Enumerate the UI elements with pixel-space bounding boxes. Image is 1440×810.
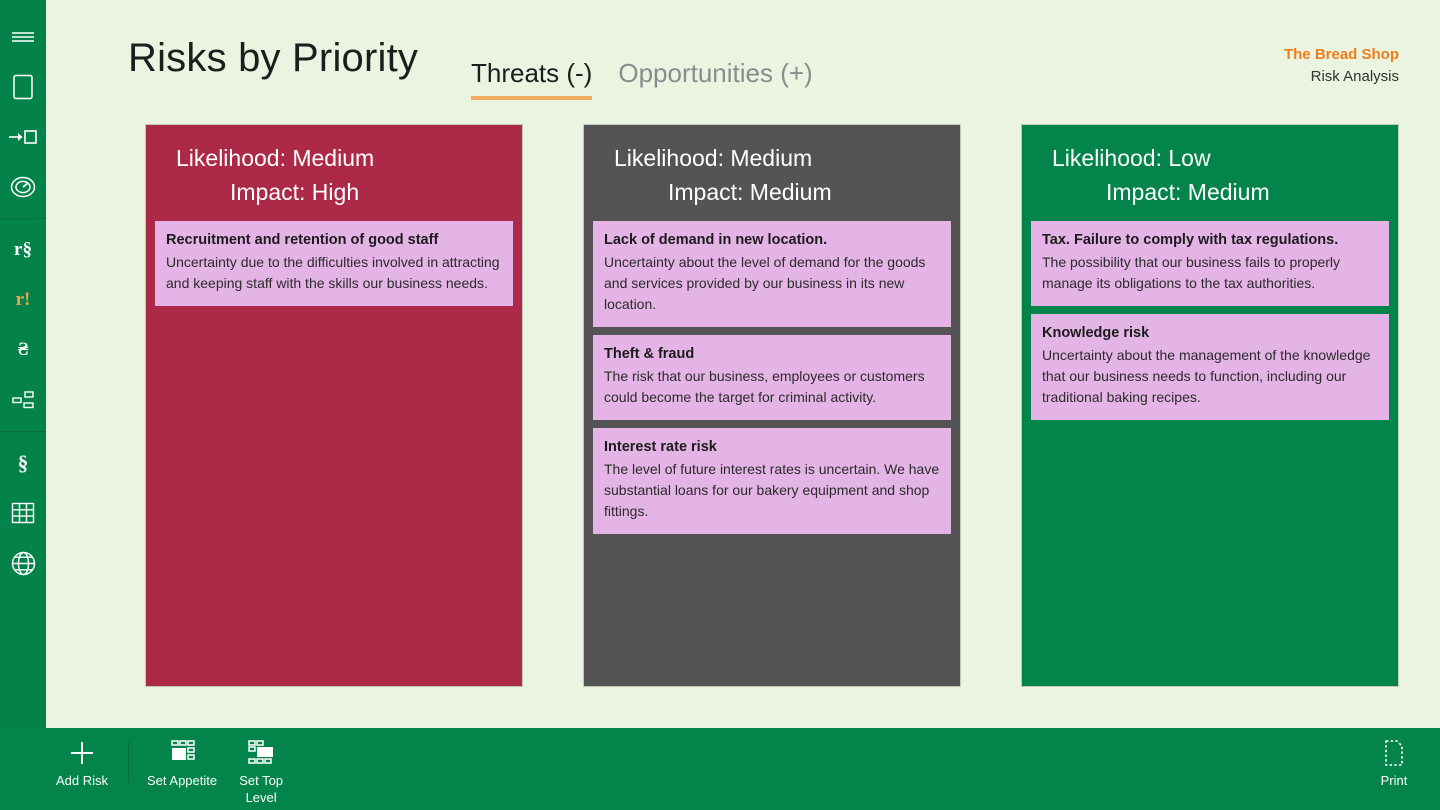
brand-subtitle: Risk Analysis — [1284, 66, 1399, 88]
column-impact: Impact: Medium — [1044, 175, 1376, 209]
risk-description: The risk that our business, employees or… — [604, 366, 940, 408]
top-level-grid-icon — [246, 738, 276, 768]
column-body: Tax. Failure to comply with tax regulati… — [1022, 221, 1398, 686]
risk-description: The level of future interest rates is un… — [604, 459, 940, 522]
set-appetite-label: Set Appetite — [147, 772, 217, 789]
risk-column-medium-high: Likelihood: Medium Impact: High Recruitm… — [146, 125, 522, 686]
globe-icon[interactable] — [0, 538, 46, 588]
add-risk-label: Add Risk — [56, 772, 108, 789]
risk-card[interactable]: Knowledge risk Uncertainty about the man… — [1031, 314, 1389, 420]
column-likelihood: Likelihood: Medium — [606, 141, 938, 175]
hamburger-menu-icon[interactable] — [0, 12, 46, 62]
risk-card[interactable]: Lack of demand in new location. Uncertai… — [593, 221, 951, 327]
bottom-command-bar: Add Risk Set Appetite — [0, 728, 1440, 810]
column-body: Recruitment and retention of good staff … — [146, 221, 522, 686]
app-root: r§ r! ₴ § — [0, 0, 1440, 810]
risk-title: Knowledge risk — [1042, 323, 1378, 343]
risk-column-medium-medium: Likelihood: Medium Impact: Medium Lack o… — [584, 125, 960, 686]
rail-divider-1 — [0, 218, 46, 219]
risk-column-low-medium: Likelihood: Low Impact: Medium Tax. Fail… — [1022, 125, 1398, 686]
risk-description: Uncertainty about the level of demand fo… — [604, 252, 940, 315]
rail-divider-2 — [0, 431, 46, 432]
column-header: Likelihood: Medium Impact: High — [146, 125, 522, 221]
risk-title: Interest rate risk — [604, 437, 940, 457]
plus-icon — [68, 738, 96, 768]
appetite-grid-icon — [167, 738, 197, 768]
view-tabs: Threats (-) Opportunities (+) — [471, 58, 813, 100]
column-header: Likelihood: Low Impact: Medium — [1022, 125, 1398, 221]
risk-columns: Likelihood: Medium Impact: High Recruitm… — [146, 125, 1400, 686]
risk-title: Theft & fraud — [604, 344, 940, 364]
print-label: Print — [1381, 772, 1408, 789]
set-top-level-button[interactable]: Set Top Level — [225, 728, 297, 806]
risk-title: Tax. Failure to comply with tax regulati… — [1042, 230, 1378, 250]
column-likelihood: Likelihood: Medium — [168, 141, 500, 175]
column-impact: Impact: Medium — [606, 175, 938, 209]
command-bar-left-group: Add Risk Set Appetite — [46, 728, 297, 810]
brand-name: The Bread Shop — [1284, 44, 1399, 66]
set-top-level-label: Set Top Level — [239, 772, 283, 806]
add-risk-button[interactable]: Add Risk — [46, 728, 118, 789]
risk-card[interactable]: Interest rate risk The level of future i… — [593, 428, 951, 534]
column-body: Lack of demand in new location. Uncertai… — [584, 221, 960, 686]
risk-description: Uncertainty due to the difficulties invo… — [166, 252, 502, 294]
risk-alert-icon[interactable]: r! — [0, 275, 46, 325]
risk-title: Recruitment and retention of good staff — [166, 230, 502, 250]
page-header: Risks by Priority Threats (-) Opportunit… — [46, 0, 1440, 118]
risk-description: Uncertainty about the management of the … — [1042, 345, 1378, 408]
set-appetite-button[interactable]: Set Appetite — [139, 728, 225, 789]
command-bar-divider — [128, 741, 129, 783]
sign-in-icon[interactable] — [0, 112, 46, 162]
hierarchy-icon[interactable] — [0, 375, 46, 425]
risk-title: Lack of demand in new location. — [604, 230, 940, 250]
brand-block: The Bread Shop Risk Analysis — [1284, 44, 1399, 88]
tab-opportunities[interactable]: Opportunities (+) — [618, 58, 812, 100]
command-bar-right-group: Print — [1358, 728, 1430, 810]
risk-card[interactable]: Theft & fraud The risk that our business… — [593, 335, 951, 420]
print-button[interactable]: Print — [1358, 728, 1430, 789]
main-canvas: Risks by Priority Threats (-) Opportunit… — [46, 0, 1440, 728]
column-likelihood: Likelihood: Low — [1044, 141, 1376, 175]
risk-card[interactable]: Tax. Failure to comply with tax regulati… — [1031, 221, 1389, 306]
column-impact: Impact: High — [168, 175, 500, 209]
print-page-icon — [1382, 738, 1406, 768]
tab-threats[interactable]: Threats (-) — [471, 58, 592, 100]
grid-table-icon[interactable] — [0, 488, 46, 538]
section-icon[interactable]: § — [0, 438, 46, 488]
page-title: Risks by Priority — [128, 36, 418, 81]
risk-card[interactable]: Recruitment and retention of good staff … — [155, 221, 513, 306]
page-icon[interactable] — [0, 62, 46, 112]
currency-icon[interactable]: ₴ — [0, 325, 46, 375]
risk-description: The possibility that our business fails … — [1042, 252, 1378, 294]
risk-register-icon[interactable]: r§ — [0, 225, 46, 275]
dashboard-gauge-icon[interactable] — [0, 162, 46, 212]
column-header: Likelihood: Medium Impact: Medium — [584, 125, 960, 221]
left-icon-rail: r§ r! ₴ § — [0, 0, 46, 810]
